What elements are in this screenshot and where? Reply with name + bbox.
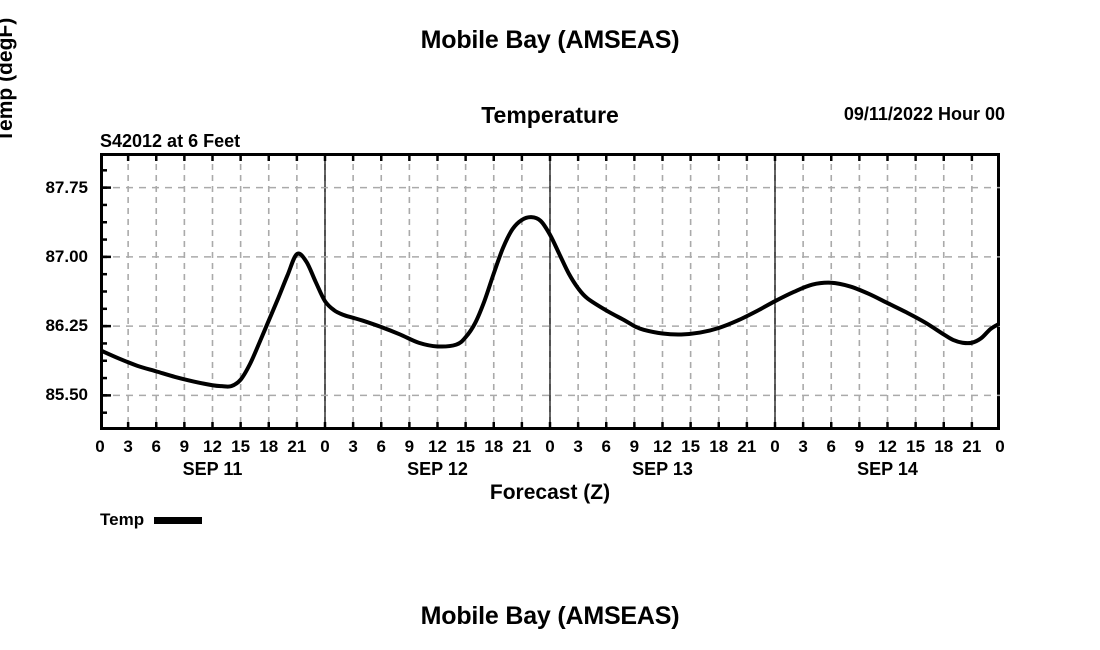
x-axis-title: Forecast (Z) [0,481,1100,505]
legend-swatch-temp [154,517,202,524]
x-tick-label: 15 [678,437,704,457]
x-tick-label: 9 [846,437,872,457]
x-axis-day-label: SEP 11 [143,459,283,480]
x-tick-label: 12 [200,437,226,457]
x-tick-label: 12 [650,437,676,457]
x-tick-label: 15 [903,437,929,457]
x-tick-label: 3 [115,437,141,457]
chart-page: Mobile Bay (AMSEAS) S42012 at 6 Feet 30.… [0,0,1100,650]
x-tick-label: 0 [762,437,788,457]
x-tick-label: 0 [537,437,563,457]
y-tick-label: 86.25 [0,316,88,336]
temperature-line-chart [100,153,1000,430]
chart-legend: Temp [100,510,202,530]
x-tick-label: 15 [228,437,254,457]
x-tick-label: 21 [509,437,535,457]
x-tick-label: 18 [931,437,957,457]
y-tick-label: 87.00 [0,247,88,267]
x-tick-label: 18 [256,437,282,457]
x-axis-day-label: SEP 14 [818,459,958,480]
x-tick-label: 9 [171,437,197,457]
x-tick-label: 6 [368,437,394,457]
x-tick-label: 21 [959,437,985,457]
y-axis-title: Temp (degF) [0,0,18,200]
page-title: Mobile Bay (AMSEAS) [0,26,1100,55]
x-tick-label: 12 [875,437,901,457]
x-tick-label: 0 [312,437,338,457]
x-tick-label: 6 [143,437,169,457]
x-tick-label: 3 [565,437,591,457]
y-tick-label: 87.75 [0,178,88,198]
x-tick-label: 6 [818,437,844,457]
x-axis-day-label: SEP 13 [593,459,733,480]
x-tick-label: 0 [987,437,1013,457]
x-tick-label: 9 [621,437,647,457]
x-tick-label: 3 [340,437,366,457]
x-tick-label: 21 [734,437,760,457]
x-tick-label: 3 [790,437,816,457]
legend-label-temp: Temp [100,510,144,530]
x-tick-label: 12 [425,437,451,457]
plot-area [100,153,1000,430]
x-tick-label: 0 [87,437,113,457]
x-tick-label: 18 [481,437,507,457]
x-tick-label: 9 [396,437,422,457]
x-tick-label: 21 [284,437,310,457]
footer-title: Mobile Bay (AMSEAS) [0,602,1100,631]
x-axis-day-label: SEP 12 [368,459,508,480]
x-tick-label: 18 [706,437,732,457]
model-run-time: 09/11/2022 Hour 00 [844,104,1005,125]
y-tick-label: 85.50 [0,385,88,405]
x-tick-label: 6 [593,437,619,457]
station-name: S42012 at 6 Feet [100,128,270,155]
x-tick-label: 15 [453,437,479,457]
